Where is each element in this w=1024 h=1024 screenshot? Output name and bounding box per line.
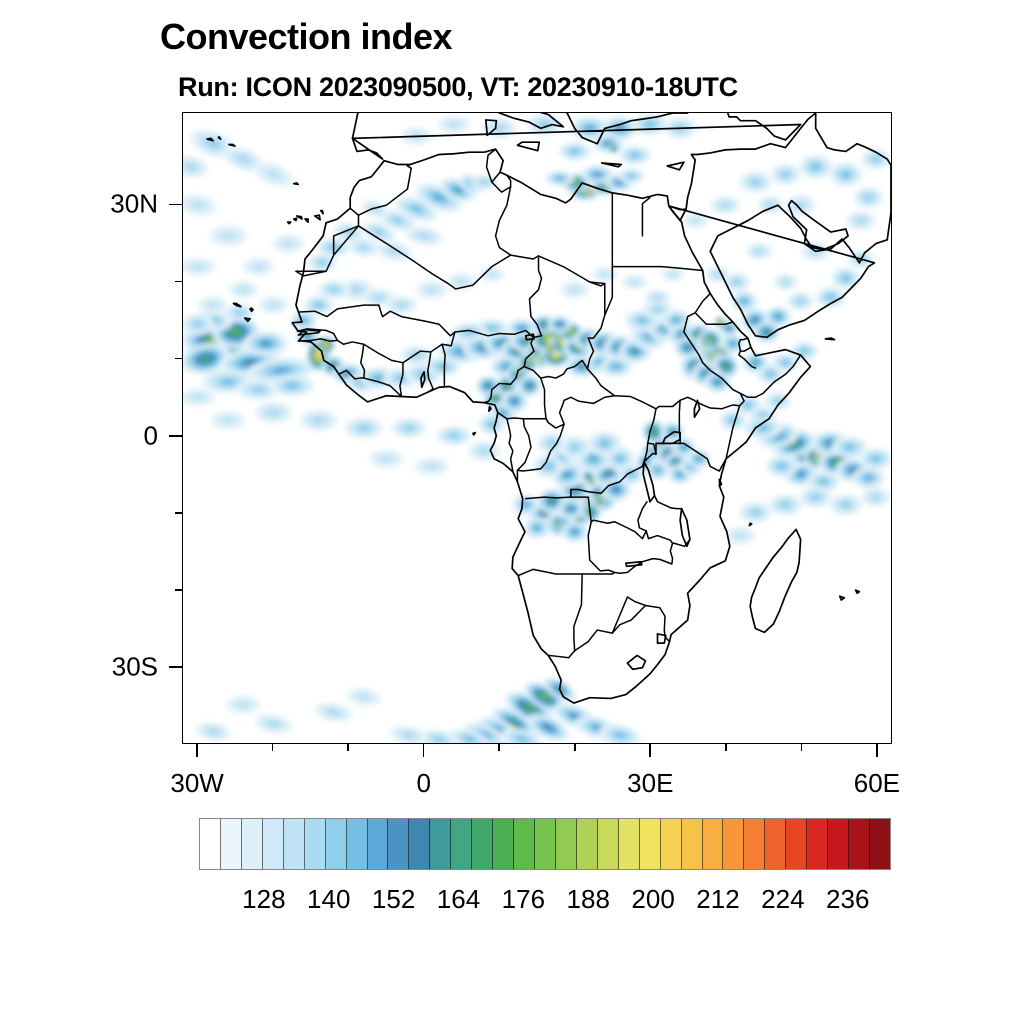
country-border-27 — [679, 400, 680, 443]
convection-cell-167 — [770, 164, 800, 186]
convection-cell-121 — [581, 165, 614, 183]
convection-cell-153 — [764, 306, 791, 328]
colorbar-label-140: 140 — [307, 884, 350, 915]
country-border-36 — [588, 522, 614, 573]
y-minor-tick--10 — [175, 512, 182, 514]
coastline-socotra — [825, 338, 834, 340]
convection-field — [183, 114, 891, 743]
convection-cell-264 — [468, 441, 501, 461]
coastline-canary6 — [321, 211, 323, 214]
x-axis-label-30E: 30E — [627, 768, 673, 799]
country-border-25 — [694, 400, 739, 408]
convection-cell-257 — [344, 417, 383, 439]
colorbar-cell-28 — [786, 819, 807, 869]
coastline-reunion — [840, 596, 845, 600]
convection-cell-256 — [299, 410, 338, 432]
convection-cell-203 — [725, 526, 755, 544]
convection-cell-234 — [183, 191, 219, 219]
convection-cell-258 — [210, 411, 246, 429]
x-major-tick-60E — [876, 744, 878, 757]
coastline-lesotho — [627, 655, 645, 669]
convection-cell-191 — [852, 467, 885, 489]
convection-cell-239 — [183, 153, 210, 181]
colorbar-cell-4 — [284, 819, 305, 869]
map-svg — [183, 113, 891, 743]
country-border-37 — [615, 543, 673, 573]
colorbar-cell-6 — [326, 819, 347, 869]
y-minor-tick-10 — [175, 358, 182, 360]
colorbar-label-212: 212 — [696, 884, 739, 915]
colorbar-cell-9 — [388, 819, 409, 869]
colorbar-cell-27 — [765, 819, 786, 869]
convection-cell-226 — [313, 700, 355, 725]
convection-cell-198 — [739, 502, 772, 524]
country-border-19 — [541, 378, 615, 428]
y-minor-tick--20 — [175, 589, 182, 591]
convection-cell-156 — [787, 292, 814, 310]
convection-cell-209 — [561, 521, 588, 543]
convection-cell-40 — [548, 316, 572, 333]
y-major-tick-0 — [169, 435, 182, 437]
colorbar-label-200: 200 — [631, 884, 674, 915]
colorbar-cell-21 — [640, 819, 661, 869]
colorbar-cell-14 — [493, 819, 514, 869]
coastline-azores2 — [218, 137, 220, 139]
convection-cell-70 — [721, 334, 745, 352]
convection-cell-68 — [701, 339, 710, 348]
colorbar-cell-20 — [619, 819, 640, 869]
convection-cell-202 — [861, 487, 891, 507]
coastline-canary4 — [305, 219, 308, 222]
convection-cell-166 — [739, 171, 772, 193]
coastline-madagascar — [750, 529, 800, 632]
colorbar-cell-19 — [598, 819, 619, 869]
colorbar-cell-1 — [221, 819, 242, 869]
colorbar-cell-12 — [451, 819, 472, 869]
convection-cell-263 — [413, 457, 449, 475]
colorbar-label-236: 236 — [826, 884, 869, 915]
convection-cell-8 — [243, 331, 288, 356]
convection-cell-236 — [183, 257, 216, 275]
x-axis-label-0: 0 — [416, 768, 430, 799]
convection-index-map-page: Convection index Run: ICON 2023090500, V… — [0, 0, 1024, 1024]
colorbar-cell-23 — [682, 819, 703, 869]
convection-cell-67 — [713, 345, 722, 354]
colorbar[interactable] — [199, 818, 891, 870]
convection-cell-11 — [270, 375, 315, 397]
coastline-crete — [602, 163, 622, 167]
colorbar-cell-24 — [703, 819, 724, 869]
convection-cell-49 — [553, 332, 564, 343]
country-border-33 — [654, 496, 681, 509]
convection-cell-171 — [786, 194, 816, 216]
convection-cell-246 — [558, 142, 591, 160]
colorbar-cell-25 — [723, 819, 744, 869]
convection-cell-207 — [557, 498, 584, 520]
convection-cell-146 — [560, 280, 590, 298]
x-axis-label-30W: 30W — [170, 768, 223, 799]
coastline-comoros — [749, 523, 751, 525]
coastline-gulfislands — [473, 433, 475, 435]
coastline-sicily — [517, 142, 539, 150]
coastline-canary5 — [315, 215, 320, 220]
y-axis-label-30S: 30S — [70, 651, 158, 682]
convection-cell-158 — [831, 267, 861, 289]
coastline-mauritius — [856, 590, 860, 593]
coastline-madeira — [294, 183, 299, 185]
y-axis-label-30N: 30N — [70, 189, 158, 220]
y-major-tick-30N — [169, 204, 182, 206]
colorbar-label-152: 152 — [372, 884, 415, 915]
x-minor-tick--20 — [272, 744, 274, 751]
colorbar-cell-29 — [807, 819, 828, 869]
convection-cell-237 — [242, 257, 275, 275]
convection-cell-145 — [478, 267, 505, 282]
convection-cell-122 — [618, 168, 645, 183]
x-major-tick-30E — [649, 744, 651, 757]
country-border-56 — [496, 187, 511, 255]
colorbar-label-128: 128 — [242, 884, 285, 915]
coastline-capeverde3 — [250, 308, 253, 311]
convection-cell-120 — [545, 171, 575, 186]
map-plot-area — [182, 112, 892, 744]
coastline-cyprus — [667, 162, 684, 170]
coastline-zanzibar — [719, 479, 721, 485]
x-minor-tick-50 — [801, 744, 803, 751]
x-axis-label-60E: 60E — [854, 768, 900, 799]
convection-cell-196 — [765, 456, 798, 478]
convection-cell-135 — [471, 174, 498, 189]
colorbar-cell-2 — [242, 819, 263, 869]
coastline-canary2 — [294, 218, 297, 220]
convection-cell-192 — [743, 417, 782, 439]
colorbar-cell-11 — [430, 819, 451, 869]
coastline-europe2 — [352, 138, 382, 159]
y-major-tick-30S — [169, 666, 182, 668]
convection-cell-199 — [769, 494, 802, 516]
coastline-canary — [288, 222, 291, 224]
convection-cell-252 — [258, 296, 288, 314]
x-minor-tick--10 — [347, 744, 349, 751]
convection-cell-168 — [799, 154, 832, 179]
colorbar-cell-17 — [556, 819, 577, 869]
colorbar-cell-16 — [535, 819, 556, 869]
convection-cell-48 — [545, 343, 557, 355]
convection-cell-253 — [228, 280, 258, 298]
convection-cell-200 — [799, 486, 832, 508]
country-border-22 — [517, 419, 531, 482]
colorbar-cell-8 — [368, 819, 389, 869]
country-border-24 — [642, 397, 694, 409]
convection-cell-143 — [415, 280, 448, 298]
convection-cell-195 — [859, 448, 891, 470]
convection-cell-229 — [344, 685, 383, 710]
colorbar-cell-31 — [849, 819, 870, 869]
convection-cell-46 — [600, 357, 633, 377]
colorbar-cell-26 — [744, 819, 765, 869]
convection-cell-249 — [608, 143, 620, 154]
colorbar-cell-5 — [305, 819, 326, 869]
colorbar-cell-32 — [870, 819, 890, 869]
page-title: Convection index — [160, 16, 452, 58]
colorbar-label-224: 224 — [761, 884, 804, 915]
colorbar-label-164: 164 — [437, 884, 480, 915]
convection-cell-69 — [674, 337, 701, 359]
x-major-tick-30W — [196, 744, 198, 757]
convection-cell-7 — [183, 314, 215, 336]
country-border-58 — [642, 198, 650, 236]
convection-cell-227 — [253, 711, 295, 736]
convection-cell-244 — [632, 114, 668, 136]
convection-cell-84 — [672, 437, 696, 457]
y-minor-tick-20 — [175, 281, 182, 283]
convection-cell-102 — [537, 433, 567, 455]
convection-cell-110 — [517, 375, 541, 397]
convection-cell-210 — [551, 516, 563, 528]
country-border-21 — [507, 419, 513, 472]
country-border-57 — [350, 208, 358, 215]
convection-cell-262 — [368, 450, 404, 468]
colorbar-cell-18 — [577, 819, 598, 869]
convection-cell-169 — [829, 162, 862, 187]
convection-cell-144 — [447, 273, 477, 291]
convection-cell-247 — [618, 146, 651, 164]
colorbar-cell-30 — [828, 819, 849, 869]
convection-cell-235 — [209, 225, 248, 247]
convection-cell-141 — [290, 311, 317, 329]
colorbar-cell-10 — [409, 819, 430, 869]
colorbar-cell-15 — [514, 819, 535, 869]
convection-cell-149 — [644, 290, 671, 305]
convection-cell-165 — [710, 196, 740, 214]
convection-cell-65 — [704, 371, 731, 393]
convection-cell-170 — [853, 187, 883, 209]
x-minor-tick-40 — [725, 744, 727, 751]
convection-cell-250 — [438, 115, 471, 133]
country-border-41 — [575, 605, 646, 650]
country-border-59 — [546, 419, 548, 423]
convection-cell-161 — [774, 274, 798, 291]
colorbar-cell-13 — [472, 819, 493, 869]
colorbar-cell-7 — [347, 819, 368, 869]
convection-cell-100 — [588, 431, 621, 456]
convection-cell-147 — [591, 267, 618, 282]
convection-cell-228 — [194, 719, 233, 743]
run-valid-time-subtitle: Run: ICON 2023090500, VT: 20230910-18UTC — [178, 72, 738, 103]
convection-cell-111 — [478, 413, 505, 435]
convection-cell-72 — [715, 317, 726, 328]
x-minor-tick-20 — [574, 744, 576, 751]
convection-cell-255 — [254, 402, 293, 424]
convection-cell-260 — [391, 418, 427, 438]
country-border-40 — [548, 574, 582, 658]
colorbar-label-188: 188 — [567, 884, 610, 915]
convection-cell-254 — [198, 296, 228, 314]
colorbar-cell-0 — [200, 819, 221, 869]
y-axis-label-0: 0 — [70, 420, 158, 451]
convection-cell-162 — [746, 243, 773, 260]
convection-cell-172 — [846, 211, 876, 231]
colorbar-cell-22 — [661, 819, 682, 869]
convection-cell-230 — [225, 695, 261, 713]
convection-cell-113 — [526, 354, 535, 363]
colorbar-label-176: 176 — [502, 884, 545, 915]
colorbar-cell-3 — [263, 819, 284, 869]
country-border-5 — [383, 311, 455, 336]
convection-cell-178 — [791, 342, 818, 360]
convection-cell-238 — [272, 234, 305, 252]
convection-cell-201 — [829, 494, 862, 516]
x-minor-tick-10 — [498, 744, 500, 751]
convection-cell-261 — [436, 426, 472, 446]
x-major-tick-0 — [423, 744, 425, 757]
convection-cell-148 — [621, 274, 648, 289]
convection-cell-208 — [523, 517, 550, 539]
